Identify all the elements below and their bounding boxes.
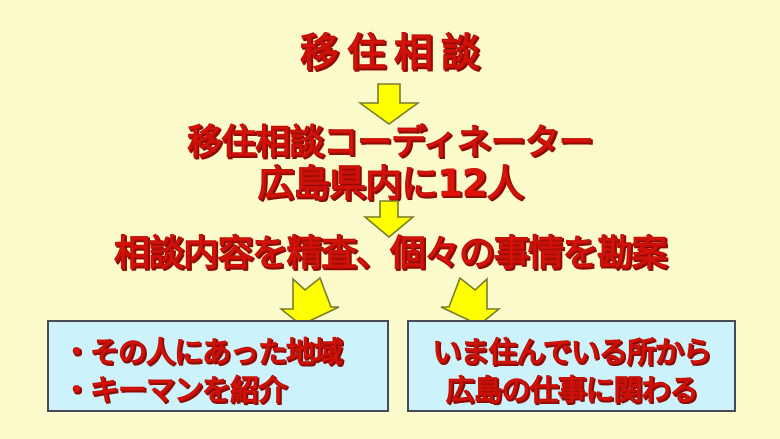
- outcome-box-left: ・その人にあった地域 ・キーマンを紹介: [47, 320, 389, 412]
- slide-canvas: 移住相談 移住相談コーディネーター 広島県内に12人 相談内容を精査、個々の事情…: [0, 0, 780, 439]
- outcome-box-left-line-2: ・キーマンを紹介: [49, 376, 387, 405]
- coordinator-line-1: 移住相談コーディネーター: [0, 126, 780, 161]
- outcome-box-right-line-1: いま住んでいる所から: [409, 338, 734, 367]
- screening-line: 相談内容を精査、個々の事情を勘案: [0, 236, 780, 272]
- flow-title: 移住相談: [0, 34, 780, 73]
- outcome-box-left-line-1: ・その人にあった地域: [49, 338, 387, 367]
- coordinator-line-2: 広島県内に12人: [0, 165, 780, 202]
- outcome-box-right-line-2: 広島の仕事に関わる: [409, 376, 734, 405]
- outcome-box-right: いま住んでいる所から 広島の仕事に関わる: [407, 320, 736, 412]
- down-arrow-icon: [358, 83, 420, 125]
